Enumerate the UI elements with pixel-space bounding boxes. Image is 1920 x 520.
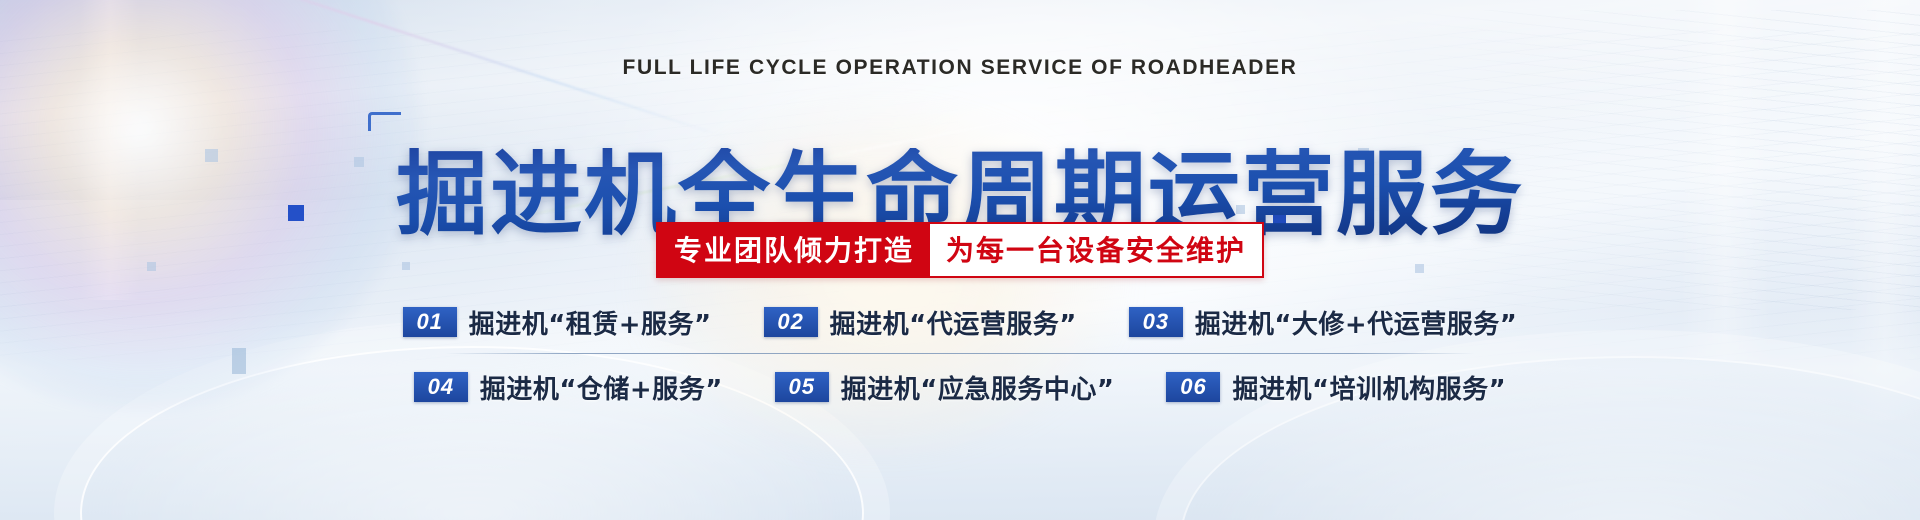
service-row-1: 01 掘进机“租赁+服务” 02 掘进机“代运营服务” 03 掘进机“大修+代运… — [403, 293, 1518, 351]
service-label: 掘进机“代运营服务” — [830, 304, 1077, 341]
service-number-badge: 02 — [764, 307, 818, 337]
english-subtitle: FULL LIFE CYCLE OPERATION SERVICE OF ROA… — [0, 56, 1920, 80]
service-label: 掘进机“租赁+服务” — [469, 304, 712, 341]
slogan-badge: 专业团队倾力打造 为每一台设备安全维护 — [656, 222, 1264, 278]
service-item-01[interactable]: 01 掘进机“租赁+服务” — [403, 304, 712, 341]
service-number-badge: 04 — [414, 372, 468, 402]
service-item-03[interactable]: 03 掘进机“大修+代运营服务” — [1129, 304, 1517, 341]
service-label: 掘进机“仓储+服务” — [480, 369, 723, 406]
service-item-05[interactable]: 05 掘进机“应急服务中心” — [775, 369, 1115, 406]
slogan-primary: 专业团队倾力打造 — [658, 224, 930, 276]
service-item-06[interactable]: 06 掘进机“培训机构服务” — [1166, 369, 1506, 406]
slogan-area: 专业团队倾力打造 为每一台设备安全维护 — [0, 222, 1920, 278]
banner-content: FULL LIFE CYCLE OPERATION SERVICE OF ROA… — [0, 0, 1920, 520]
service-row-2: 04 掘进机“仓储+服务” 05 掘进机“应急服务中心” 06 掘进机“培训机构… — [414, 358, 1506, 416]
service-item-02[interactable]: 02 掘进机“代运营服务” — [764, 304, 1077, 341]
service-label: 掘进机“培训机构服务” — [1232, 369, 1506, 406]
service-divider — [445, 353, 1475, 354]
service-item-04[interactable]: 04 掘进机“仓储+服务” — [414, 369, 723, 406]
service-list: 01 掘进机“租赁+服务” 02 掘进机“代运营服务” 03 掘进机“大修+代运… — [0, 293, 1920, 416]
service-number-badge: 03 — [1129, 307, 1183, 337]
service-label: 掘进机“应急服务中心” — [841, 369, 1115, 406]
service-number-badge: 01 — [403, 307, 457, 337]
slogan-secondary: 为每一台设备安全维护 — [930, 224, 1262, 276]
service-label: 掘进机“大修+代运营服务” — [1195, 304, 1517, 341]
service-number-badge: 06 — [1166, 372, 1220, 402]
service-number-badge: 05 — [775, 372, 829, 402]
roadheader-service-banner: FULL LIFE CYCLE OPERATION SERVICE OF ROA… — [0, 0, 1920, 520]
